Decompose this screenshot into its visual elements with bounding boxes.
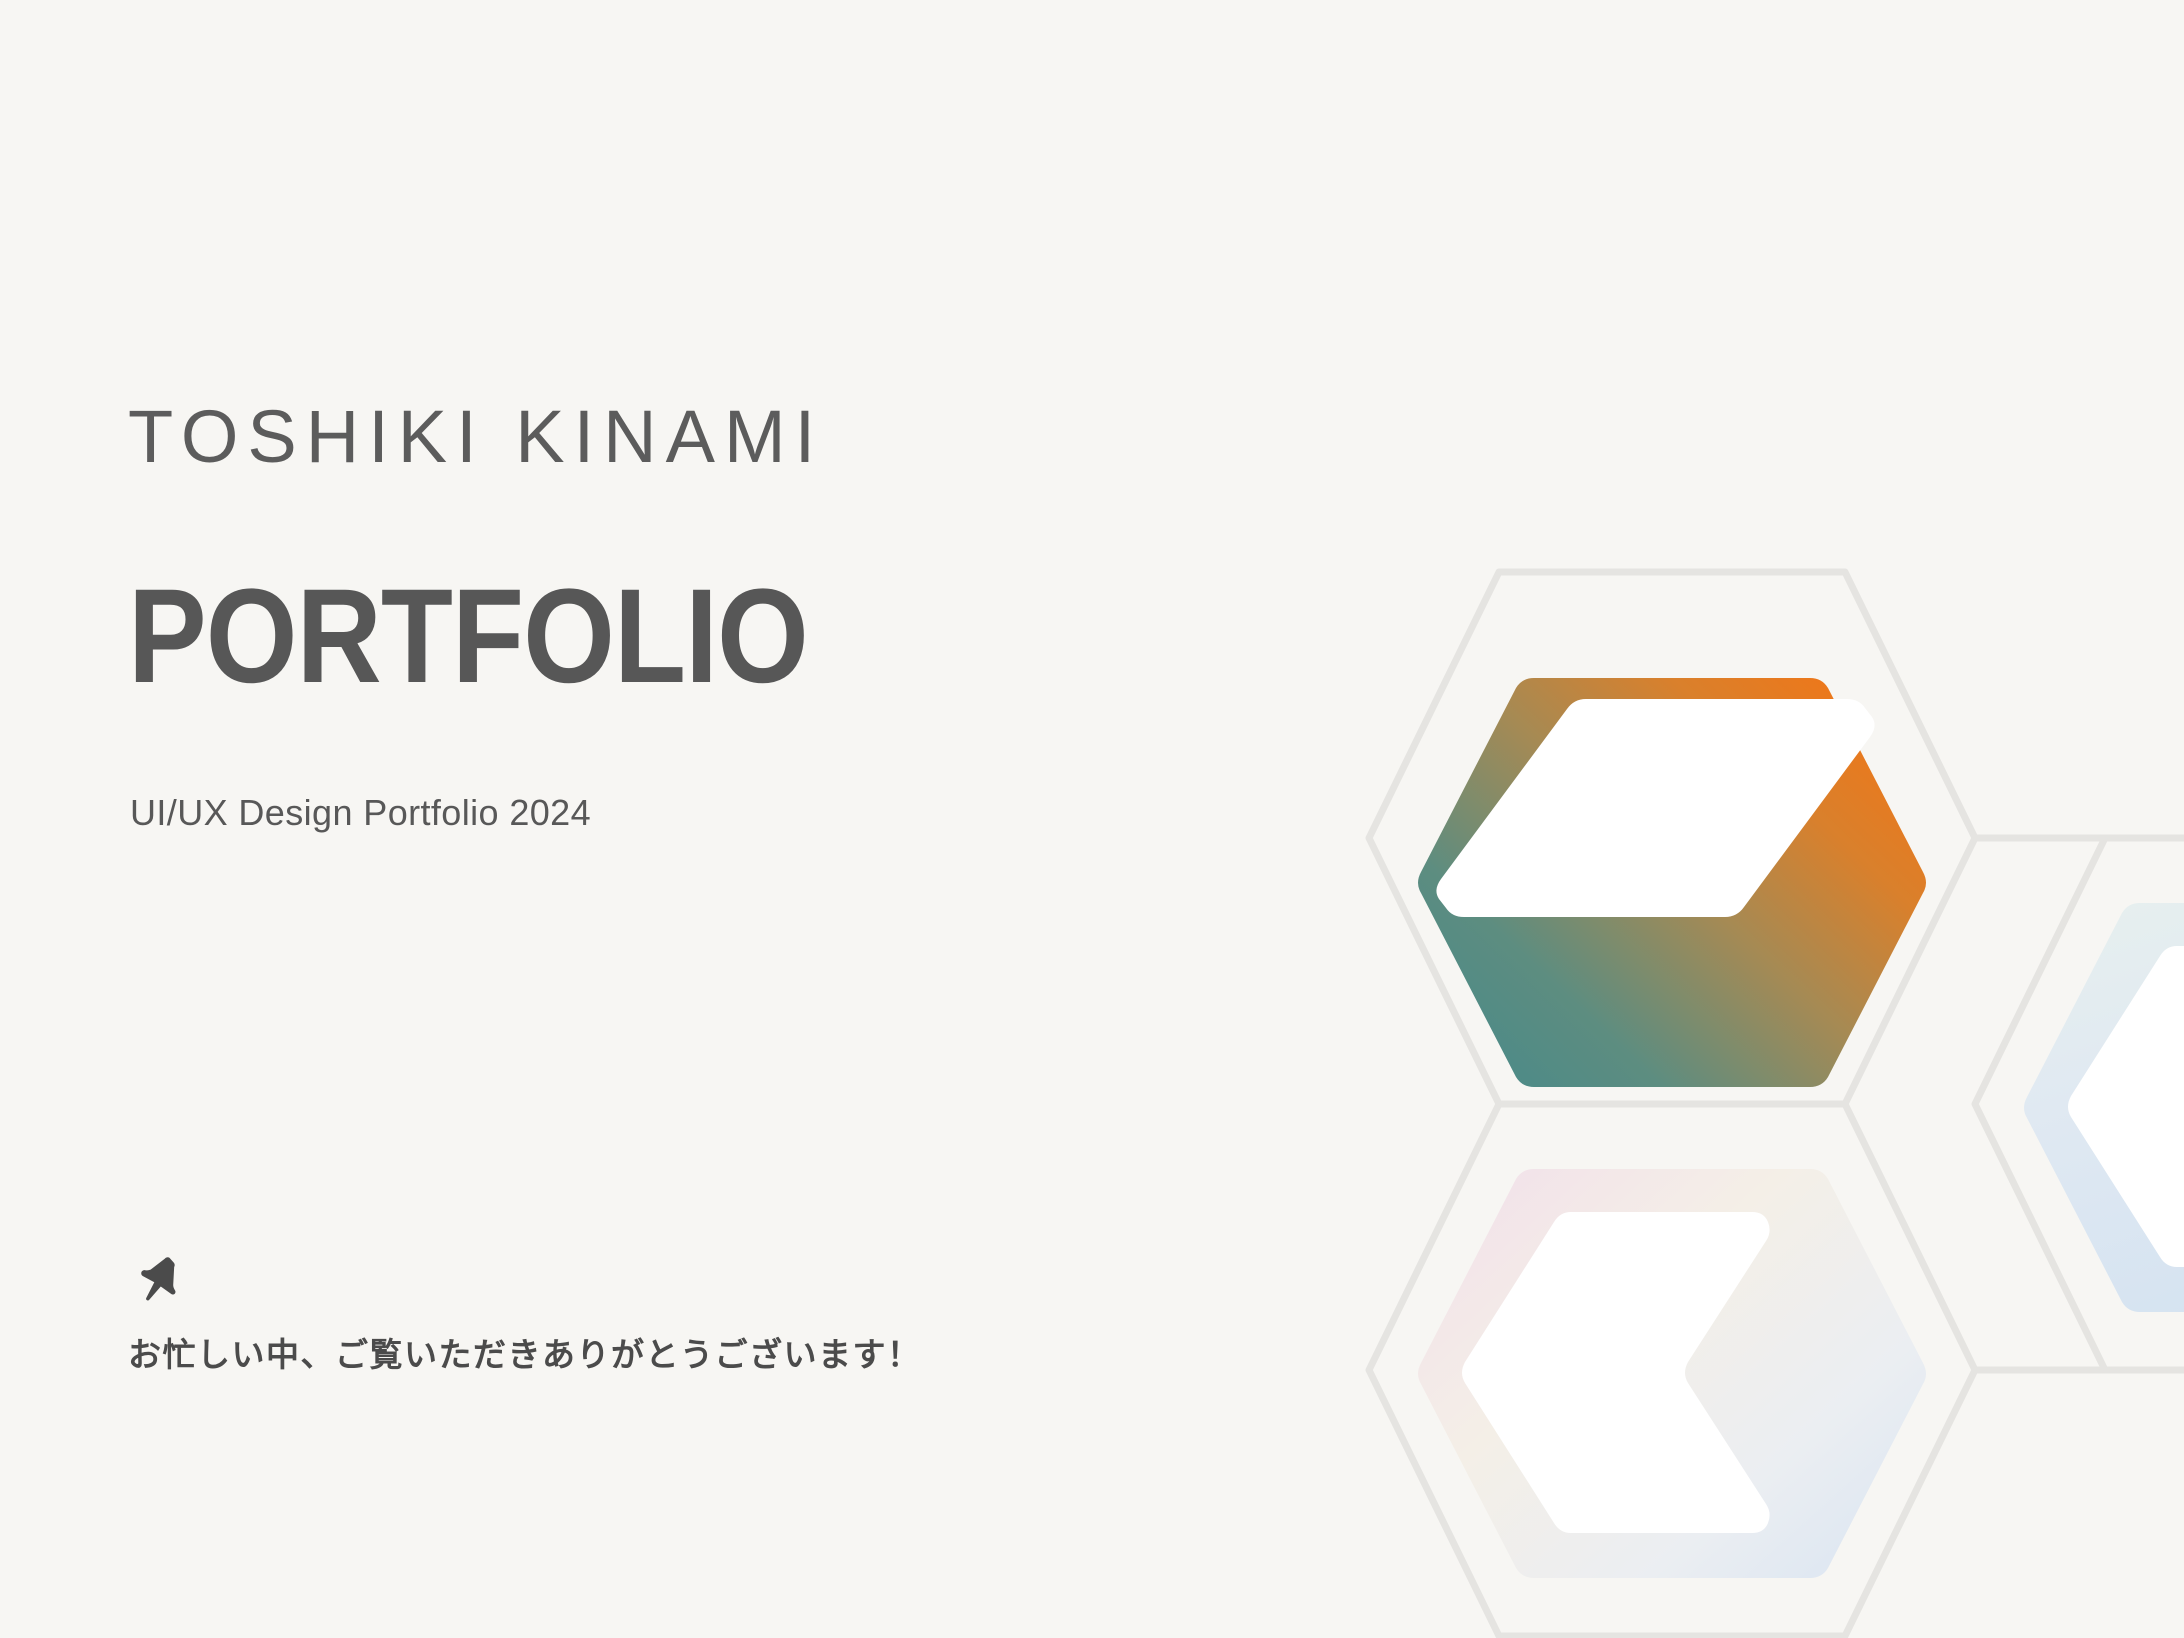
author-name: TOSHIKI KINAMI [128, 400, 824, 474]
hexagon-logo-primary [1418, 678, 1926, 1087]
pushpin-icon [134, 1252, 190, 1308]
hexagon-outline-2 [1369, 1104, 1975, 1636]
portfolio-cover-slide: TOSHIKI KINAMI PORTFOLIO UI/UX Design Po… [0, 0, 2184, 1638]
hexagon-outline-grid [1369, 572, 2184, 1636]
page-title: PORTFOLIO [128, 570, 808, 704]
hexagon-logo-blue [2024, 903, 2184, 1312]
thanks-message: お忙しい中、ご覧いただきありがとうございます！ [128, 1334, 922, 1375]
title-text-column: TOSHIKI KINAMI PORTFOLIO UI/UX Design Po… [128, 0, 1128, 1638]
hexagon-logo-faded [1418, 1169, 1926, 1578]
thanks-block: お忙しい中、ご覧いただきありがとうございます！ [128, 1252, 922, 1375]
hexagon-outline-1 [1369, 572, 1975, 1104]
page-subtitle: UI/UX Design Portfolio 2024 [130, 795, 591, 831]
hexagon-outline-3 [1975, 838, 2184, 1370]
